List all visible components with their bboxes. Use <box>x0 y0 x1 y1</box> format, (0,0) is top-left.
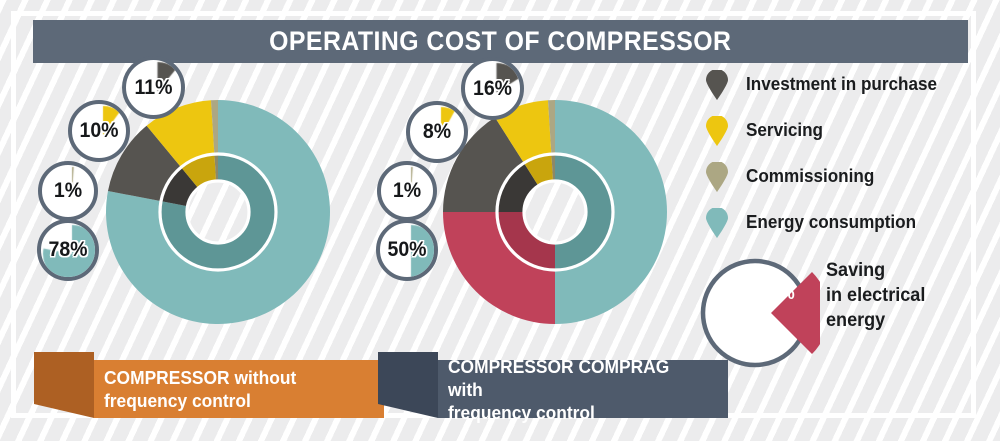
callout-badge-investment-right: 16% <box>461 57 524 120</box>
badge-label: 11% <box>128 60 179 115</box>
ring-separator <box>187 181 249 243</box>
banner-label: COMPRESSOR COMPRAG with frequency contro… <box>448 355 707 424</box>
ring-separator <box>524 181 586 243</box>
callout-badge-servicing-left: 10% <box>68 100 130 162</box>
legend-item-investment: Investment in purchase <box>705 64 947 105</box>
badge-label: 1% <box>44 165 92 217</box>
badge-label: 1% <box>383 165 431 217</box>
page-title: OPERATING COST OF COMPRESSOR <box>269 26 731 57</box>
title-bar: OPERATING COST OF COMPRESSOR <box>33 20 968 63</box>
legend-item-servicing: Servicing <box>705 110 947 151</box>
donut-chart-without-frequency-control <box>103 97 333 327</box>
saving-caption: Saving in electrical energy <box>826 258 925 333</box>
banner-with-frequency-control: COMPRESSOR COMPRAG with frequency contro… <box>378 352 728 418</box>
saving-percent-label: 25% <box>759 283 794 305</box>
callout-badge-energy-right: 50% <box>376 219 438 281</box>
callout-badge-commissioning-right: 1% <box>377 161 437 221</box>
legend-label: Investment in purchase <box>746 74 937 95</box>
legend-label: Commissioning <box>746 166 874 187</box>
legend-label: Servicing <box>746 120 823 141</box>
legend-item-commissioning: Commissioning <box>705 156 947 197</box>
callout-badge-investment-left: 11% <box>122 56 185 119</box>
pin-icon <box>705 116 729 146</box>
pin-icon <box>705 162 729 192</box>
infographic-root: OPERATING COST OF COMPRESSOR 11% 10% 1% … <box>0 0 1000 441</box>
banner-without-frequency-control: COMPRESSOR without frequency control <box>34 352 384 418</box>
pin-icon <box>705 70 729 100</box>
banner-label: COMPRESSOR without frequency control <box>104 366 296 412</box>
pin-icon <box>705 208 729 238</box>
legend: Investment in purchase Servicing Commiss… <box>705 64 947 248</box>
badge-label: 50% <box>382 223 432 277</box>
callout-badge-servicing-right: 8% <box>406 101 468 163</box>
donut-chart-with-frequency-control <box>440 97 670 327</box>
callout-badge-commissioning-left: 1% <box>38 161 98 221</box>
legend-label: Energy consumption <box>746 212 916 233</box>
badge-label: 16% <box>467 61 518 116</box>
badge-label: 10% <box>74 104 124 158</box>
legend-item-energy: Energy consumption <box>705 202 947 243</box>
badge-label: 78% <box>43 223 93 277</box>
callout-badge-energy-left: 78% <box>37 219 99 281</box>
badge-label: 8% <box>412 105 462 159</box>
